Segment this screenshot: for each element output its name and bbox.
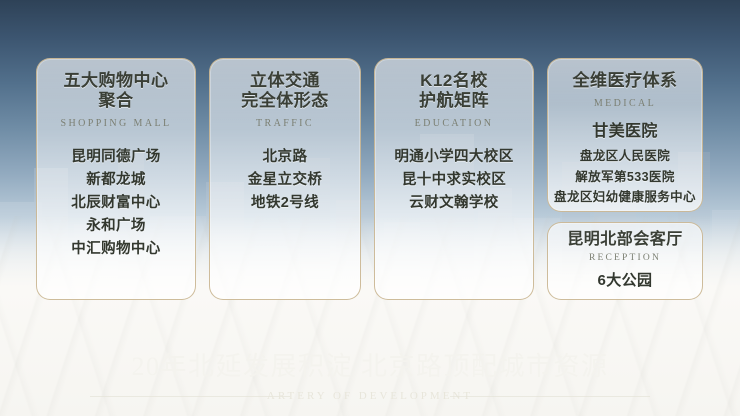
list-item: 盘龙区人民医院: [548, 146, 702, 166]
list-item: 昆十中求实校区: [375, 169, 533, 192]
card-title-medical: 全维医疗体系: [548, 71, 702, 91]
list-item: 昆明同德广场: [37, 146, 195, 169]
feature-card-traffic: 立体交通 完全体形态 TRAFFIC 北京路 金星立交桥 地铁2号线: [209, 58, 361, 300]
bottom-banner: 20年北延发展积淀 北京路顶配城市资源 ARTERY OF DEVELOPMEN…: [0, 344, 740, 416]
card-list-reception: 6大公园: [548, 269, 702, 293]
card-title-line2: 护航矩阵: [375, 91, 533, 111]
card-subtitle-reception: RECEPTION: [548, 253, 702, 263]
card-subtitle-shopping-mall: SHOPPING MALL: [37, 118, 195, 129]
card-subtitle-traffic: TRAFFIC: [210, 118, 360, 129]
card-subtitle-education: EDUCATION: [375, 118, 533, 129]
list-item: 盘龙区妇幼健康服务中心: [548, 187, 702, 207]
list-item: 北京路: [210, 146, 360, 169]
card-title-line1: 五大购物中心: [37, 71, 195, 91]
card-list-education: 明通小学四大校区 昆十中求实校区 云财文翰学校: [375, 146, 533, 215]
feature-card-reception: 昆明北部会客厅 RECEPTION 6大公园: [547, 222, 703, 300]
card-title-line1: 全维医疗体系: [548, 71, 702, 91]
list-item: 永和广场: [37, 215, 195, 238]
card-title-reception: 昆明北部会客厅: [548, 231, 702, 250]
list-item: 云财文翰学校: [375, 192, 533, 215]
list-item: 6大公园: [548, 269, 702, 293]
banner-subtitle-row: ARTERY OF DEVELOPMENT: [90, 385, 650, 407]
card-list-medical: 甘美医院 盘龙区人民医院 解放军第533医院 盘龙区妇幼健康服务中心: [548, 119, 702, 207]
list-item: 解放军第533医院: [548, 167, 702, 187]
promo-poster: 五大购物中心 聚合 SHOPPING MALL 昆明同德广场 新都龙城 北辰财富…: [0, 0, 740, 416]
card-title-line1: K12名校: [375, 71, 533, 91]
list-item: 北辰财富中心: [37, 192, 195, 215]
card-title-line2: 完全体形态: [210, 91, 360, 111]
list-item: 明通小学四大校区: [375, 146, 533, 169]
list-item: 金星立交桥: [210, 169, 360, 192]
card-title-education: K12名校 护航矩阵: [375, 71, 533, 111]
banner-title: 20年北延发展积淀 北京路顶配城市资源: [131, 352, 608, 382]
list-item: 新都龙城: [37, 169, 195, 192]
feature-card-shopping-mall: 五大购物中心 聚合 SHOPPING MALL 昆明同德广场 新都龙城 北辰财富…: [36, 58, 196, 300]
list-item: 甘美医院: [548, 119, 702, 144]
card-list-traffic: 北京路 金星立交桥 地铁2号线: [210, 146, 360, 215]
list-item: 地铁2号线: [210, 192, 360, 215]
banner-rule-right: [450, 396, 650, 397]
card-title-line1: 立体交通: [210, 71, 360, 91]
card-list-shopping-mall: 昆明同德广场 新都龙城 北辰财富中心 永和广场 中汇购物中心: [37, 146, 195, 261]
list-item: 中汇购物中心: [37, 238, 195, 261]
feature-card-medical: 全维医疗体系 MEDICAL 甘美医院 盘龙区人民医院 解放军第533医院 盘龙…: [547, 58, 703, 212]
card-subtitle-medical: MEDICAL: [548, 98, 702, 109]
feature-card-education: K12名校 护航矩阵 EDUCATION 明通小学四大校区 昆十中求实校区 云财…: [374, 58, 534, 300]
card-title-traffic: 立体交通 完全体形态: [210, 71, 360, 111]
card-title-line1: 昆明北部会客厅: [548, 231, 702, 250]
banner-content: 20年北延发展积淀 北京路顶配城市资源 ARTERY OF DEVELOPMEN…: [0, 344, 740, 416]
card-title-line2: 聚合: [37, 91, 195, 111]
card-title-shopping-mall: 五大购物中心 聚合: [37, 71, 195, 111]
